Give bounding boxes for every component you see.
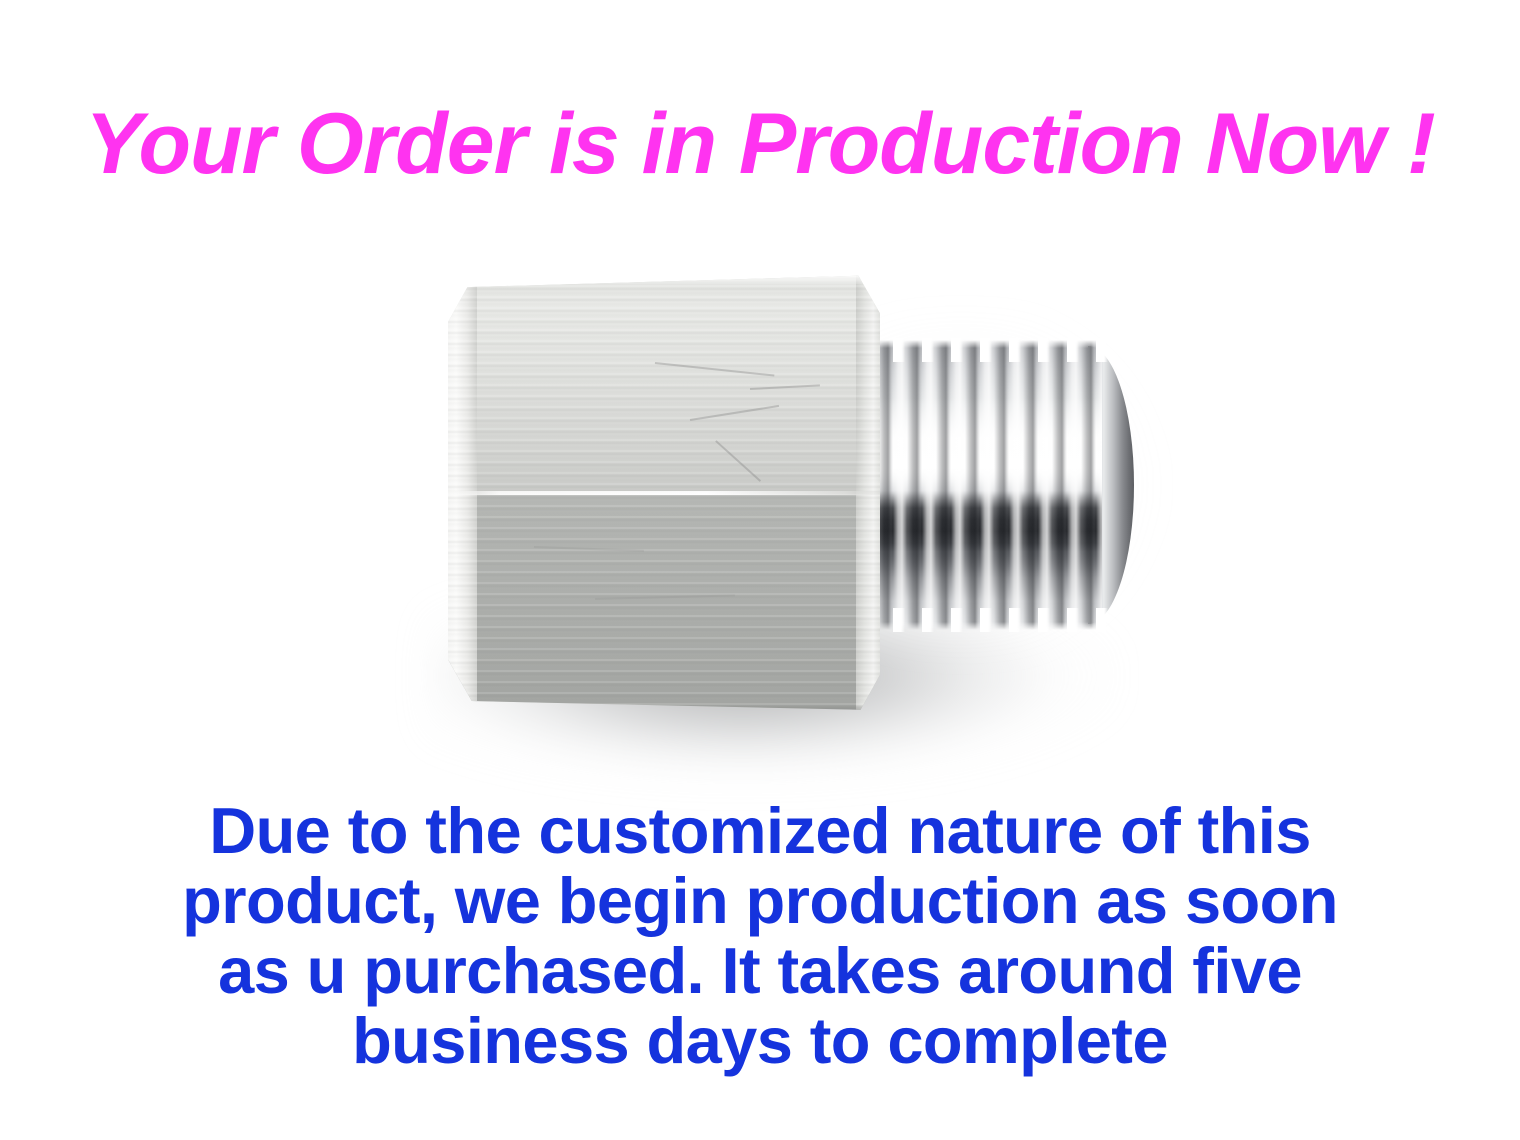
thread-crest-bottom — [864, 608, 1108, 632]
caption-line: business days to complete — [0, 1006, 1520, 1076]
thread-grooves — [864, 340, 1102, 630]
caption-line: product, we begin production as soon — [0, 866, 1520, 936]
caption-line: Due to the customized nature of this — [0, 796, 1520, 866]
promo-image-root: { "canvas": { "width": 1520, "height": 1… — [0, 0, 1520, 1140]
hex-body-surface — [448, 274, 880, 712]
caption-line: as u purchased. It takes around five — [0, 936, 1520, 1006]
threaded-nipple — [864, 340, 1134, 630]
hex-bottom-edge — [461, 705, 867, 712]
product-photo — [380, 240, 1220, 800]
thread-cylinder — [864, 340, 1102, 630]
thread-crest-top — [864, 338, 1108, 362]
page-title: Your Order is in Production Now ! — [0, 96, 1520, 192]
caption-block: Due to the customized nature of this pro… — [0, 796, 1520, 1076]
hex-machining-marks — [448, 274, 880, 712]
hex-body — [448, 274, 880, 712]
hex-top-edge — [457, 275, 872, 284]
